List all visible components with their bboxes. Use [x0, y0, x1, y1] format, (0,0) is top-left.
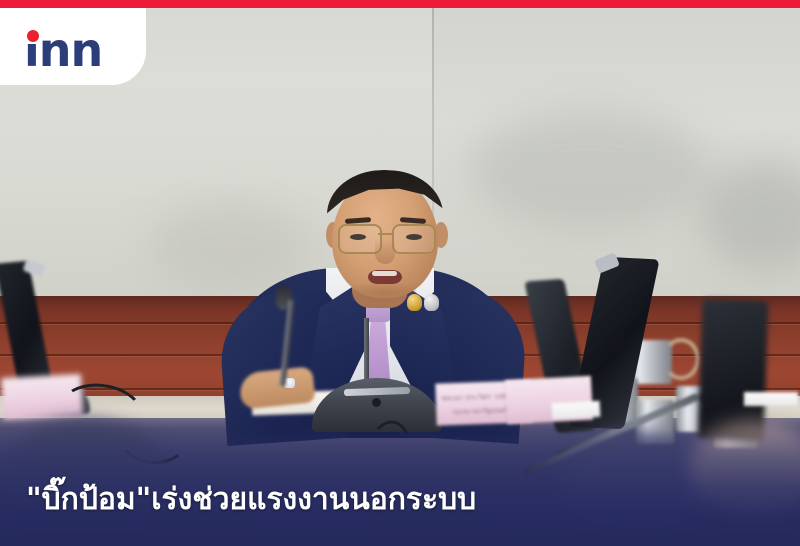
desk-microphone-stem [364, 318, 369, 384]
nameplate-line-2: รองนายกรัฐมนตรี [452, 405, 510, 418]
logo-red-dot-icon [27, 30, 39, 42]
inn-logo-icon: inn [24, 30, 120, 70]
microphone-indicator [372, 398, 381, 407]
paper-sheet-far-right [744, 392, 798, 406]
lapel-pin-gold [407, 294, 422, 311]
lapel-pin-silver [424, 294, 439, 311]
eyeglass-bridge [378, 233, 394, 235]
caption-headline: "บิ๊กป้อม"เร่งช่วยแรงงานนอกระบบ [26, 482, 476, 518]
news-image-card: พลเอก ประวิตร วงษ์สุวรรณ รองนายกรัฐมนตรี… [0, 0, 800, 546]
eyeglass-lens-right [392, 224, 436, 254]
top-accent-bar [0, 0, 800, 8]
logo-container[interactable]: inn [0, 8, 146, 85]
paper-sheet-right [552, 401, 601, 419]
nose [375, 238, 395, 264]
teeth [372, 271, 397, 276]
metal-cup-handle-1 [662, 338, 700, 380]
